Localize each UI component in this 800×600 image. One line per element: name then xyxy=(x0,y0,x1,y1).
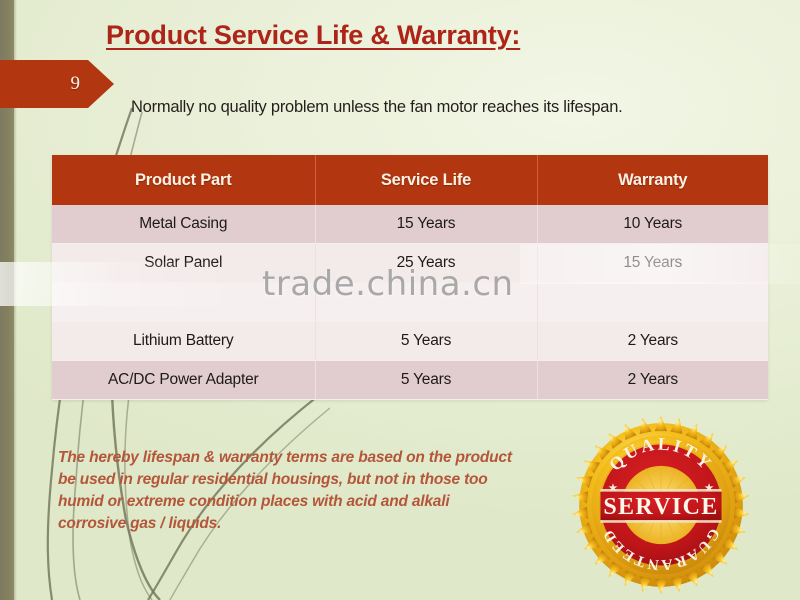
warranty-table: Product Part Service Life Warranty Metal… xyxy=(52,155,768,400)
svg-text:★: ★ xyxy=(704,481,714,495)
cell-warranty: 2 Years xyxy=(537,322,768,361)
seal-center-text: SERVICE xyxy=(603,494,718,520)
cell-warranty xyxy=(537,283,768,322)
cell-service-life: 15 Years xyxy=(315,205,537,244)
cell-service-life: 5 Years xyxy=(315,322,537,361)
page-subtitle: Normally no quality problem unless the f… xyxy=(131,98,623,117)
footnote-text: The hereby lifespan & warranty terms are… xyxy=(58,447,518,535)
cell-service-life: 5 Years xyxy=(315,361,537,400)
cell-product-part: Lithium Battery xyxy=(52,322,315,361)
table-row: AC/DC Power Adapter 5 Years 2 Years xyxy=(52,361,768,400)
table-header-row: Product Part Service Life Warranty xyxy=(52,155,768,205)
cell-product-part: AC/DC Power Adapter xyxy=(52,361,315,400)
cell-product-part: Metal Casing xyxy=(52,205,315,244)
slide-canvas: 9 Product Service Life & Warranty: Norma… xyxy=(0,0,800,600)
cell-warranty: 2 Years xyxy=(537,361,768,400)
cell-product-part xyxy=(52,283,315,322)
table-row: Solar Panel 25 Years 15 Years xyxy=(52,244,768,283)
cell-warranty: 10 Years xyxy=(537,205,768,244)
column-header-service-life: Service Life xyxy=(315,155,537,205)
page-number-banner: 9 xyxy=(0,60,112,108)
cell-product-part: Solar Panel xyxy=(52,244,315,283)
page-number-banner-arrow-icon xyxy=(88,60,114,108)
table-row-obscured xyxy=(52,283,768,322)
cell-service-life xyxy=(315,283,537,322)
quality-service-guaranteed-seal-icon: ★ ★ QUALITY GUARANTEED SERVICE xyxy=(572,416,750,594)
cell-service-life: 25 Years xyxy=(315,244,537,283)
page-title: Product Service Life & Warranty: xyxy=(106,20,520,51)
column-header-warranty: Warranty xyxy=(537,155,768,205)
svg-text:★: ★ xyxy=(608,481,618,495)
page-number: 9 xyxy=(0,60,88,108)
column-header-product-part: Product Part xyxy=(52,155,315,205)
cell-warranty: 15 Years xyxy=(537,244,768,283)
table-row: Lithium Battery 5 Years 2 Years xyxy=(52,322,768,361)
table-row: Metal Casing 15 Years 10 Years xyxy=(52,205,768,244)
